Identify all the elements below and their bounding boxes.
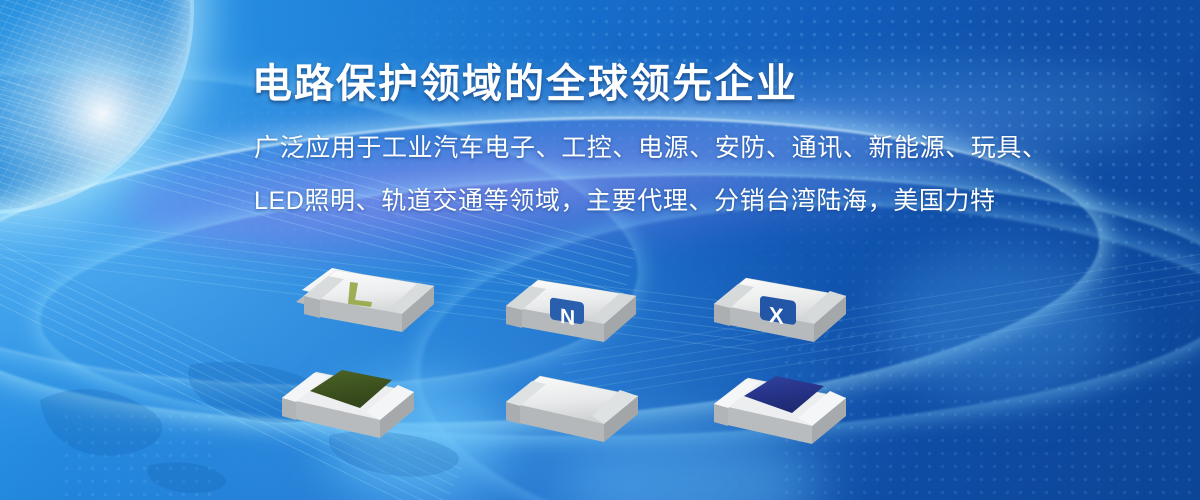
svg-text:X: X (769, 302, 784, 329)
product-smd-fuse-blue-label-n: N (492, 256, 642, 361)
product-smd-fuse-olive-green-top (268, 352, 423, 462)
product-smd-fuse-blue-label-x: X (700, 256, 855, 361)
product-smd-fuse-green-l-marking (288, 244, 438, 349)
product-smd-fuse-plain-white (492, 356, 647, 464)
product-smd-fuse-dark-blue-top (700, 356, 855, 464)
promo-banner: 电路保护领域的全球领先企业 广泛应用于工业汽车电子、工控、电源、安防、通讯、新能… (0, 0, 1200, 500)
svg-text:N: N (560, 305, 575, 330)
product-image-group: N X (0, 0, 1200, 500)
